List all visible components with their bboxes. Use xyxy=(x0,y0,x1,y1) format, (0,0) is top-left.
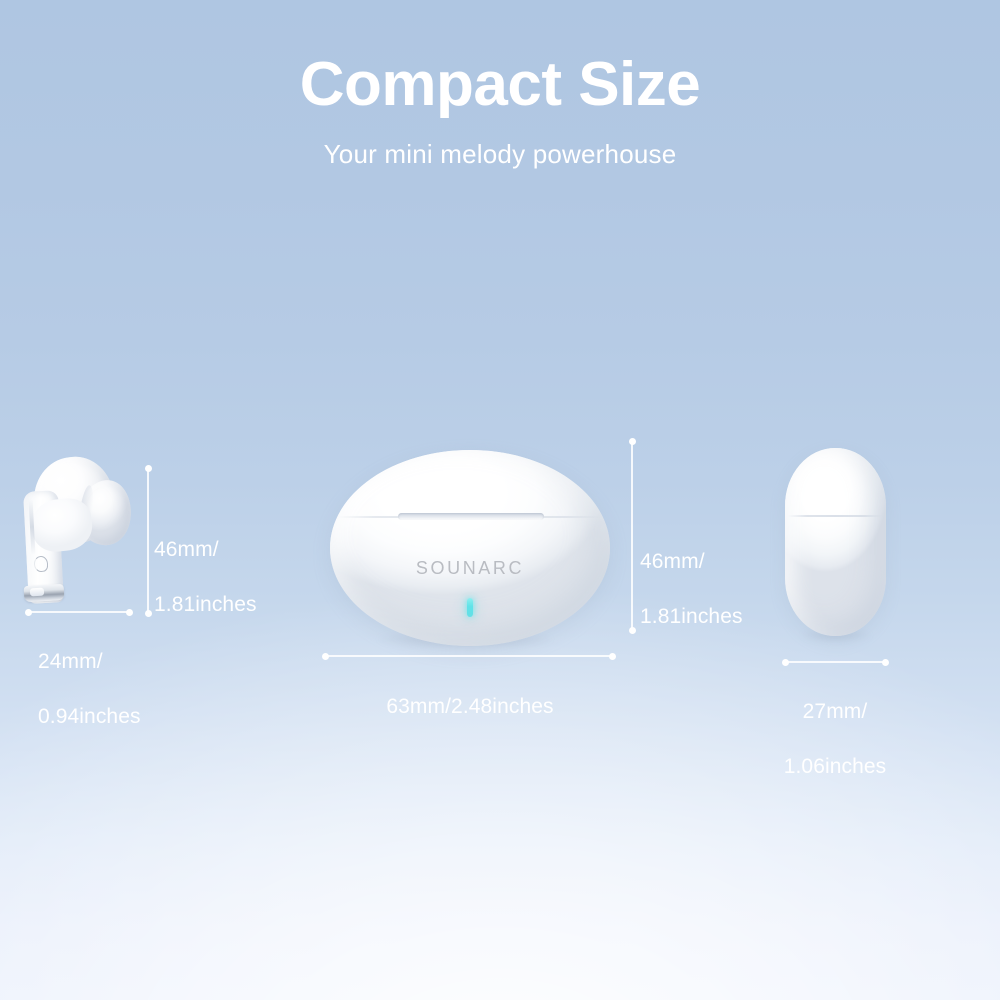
earbud-width-dimension-dot-right xyxy=(126,609,133,616)
case-height-label: 46mm/ 1.81inches xyxy=(640,520,770,631)
charging-case-led-indicator xyxy=(467,598,473,617)
charging-case-side-illustration xyxy=(775,440,900,645)
case-height-dimension-dot-bottom xyxy=(629,627,636,634)
earbud-height-label-mm: 46mm/ xyxy=(154,538,219,561)
charging-case-side-body xyxy=(785,448,886,636)
case-depth-label: 27mm/ 1.06inches xyxy=(760,670,910,781)
charging-case-side-lid-seam xyxy=(788,515,883,517)
charging-case-lid-groove xyxy=(398,513,544,520)
case-width-dimension-dot-left xyxy=(322,653,329,660)
page-subtitle: Your mini melody powerhouse xyxy=(0,117,1000,170)
case-width-dimension-line xyxy=(326,655,612,657)
case-height-dimension-line xyxy=(631,441,633,630)
case-depth-dimension-dot-left xyxy=(782,659,789,666)
case-depth-label-mm: 27mm/ xyxy=(803,700,868,723)
case-depth-label-inches: 1.06inches xyxy=(784,755,887,778)
earbud-width-label: 24mm/ 0.94inches xyxy=(38,620,188,731)
earbud-height-dimension-dot-top xyxy=(145,465,152,472)
earbud-width-label-inches: 0.94inches xyxy=(38,705,141,728)
case-depth-dimension-line xyxy=(786,661,885,663)
case-width-dimension-dot-right xyxy=(609,653,616,660)
case-height-label-inches: 1.81inches xyxy=(640,605,743,628)
charging-case-front-illustration: SOUNARC xyxy=(320,440,620,660)
case-width-label-text: 63mm/2.48inches xyxy=(386,695,553,718)
case-width-label: 63mm/2.48inches xyxy=(320,665,620,720)
earbud-height-dimension-dot-bottom xyxy=(145,610,152,617)
earbud-logo-icon xyxy=(34,556,49,573)
earbud-illustration xyxy=(10,455,160,630)
case-height-dimension-dot-top xyxy=(629,438,636,445)
product-infographic: Compact Size Your mini melody powerhouse… xyxy=(0,0,1000,1000)
charging-case-brand-label: SOUNARC xyxy=(320,558,620,579)
charging-case-side-highlight xyxy=(811,470,859,536)
earbud-contact-notch xyxy=(30,588,44,597)
earbud-width-dimension-dot-left xyxy=(25,609,32,616)
header: Compact Size Your mini melody powerhouse xyxy=(0,0,1000,170)
earbud-width-label-mm: 24mm/ xyxy=(38,650,103,673)
earbud-height-label-inches: 1.81inches xyxy=(154,593,257,616)
case-height-label-mm: 46mm/ xyxy=(640,550,705,573)
earbud-width-dimension-line xyxy=(29,611,129,613)
case-depth-dimension-dot-right xyxy=(882,659,889,666)
earbud-height-label: 46mm/ 1.81inches xyxy=(154,508,274,619)
earbud-height-dimension-line xyxy=(147,468,149,613)
page-title: Compact Size xyxy=(0,0,1000,117)
